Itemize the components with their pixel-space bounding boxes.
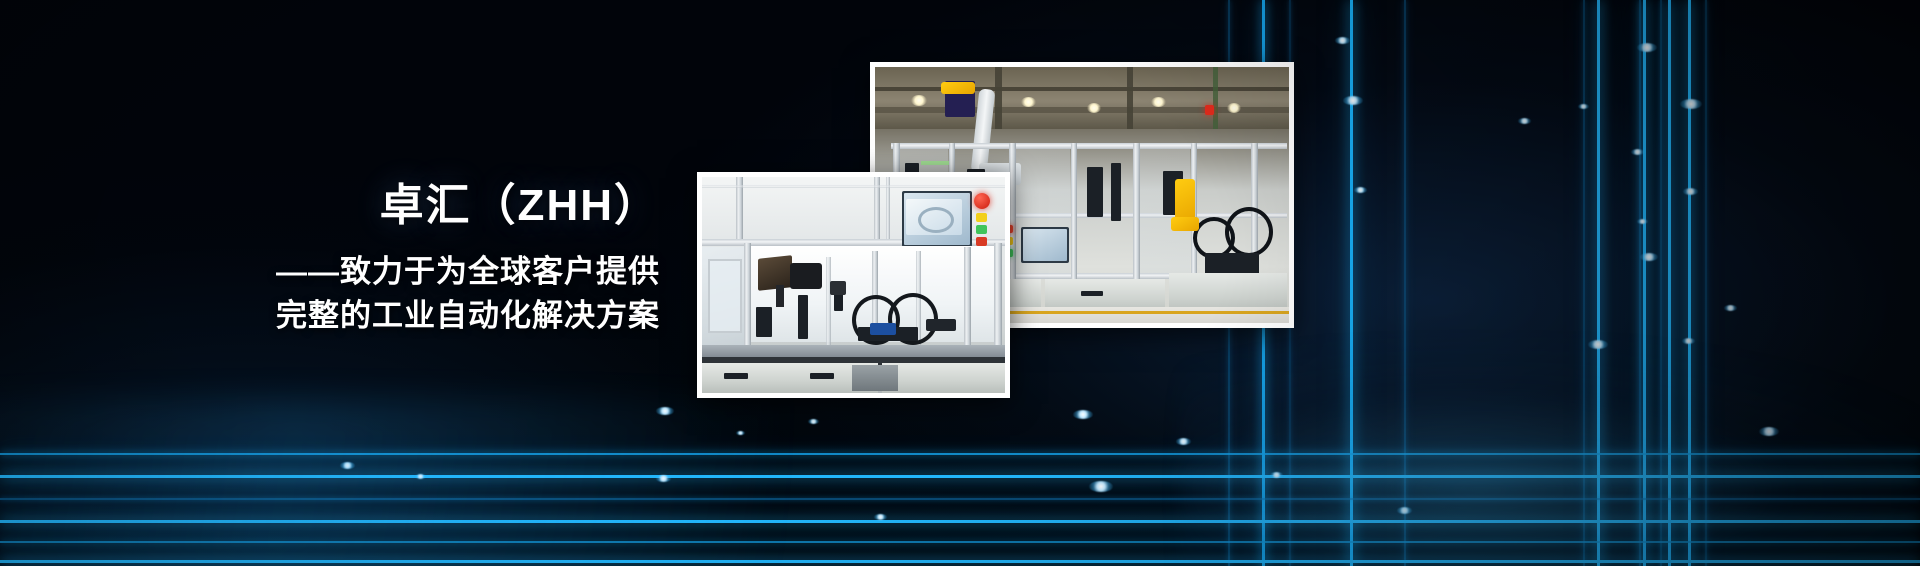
hero-banner: 卓汇（ZHH） ——致力于为全球客户提供 完整的工业自动化解决方案	[0, 0, 1920, 566]
vignette-overlay	[0, 0, 1920, 566]
